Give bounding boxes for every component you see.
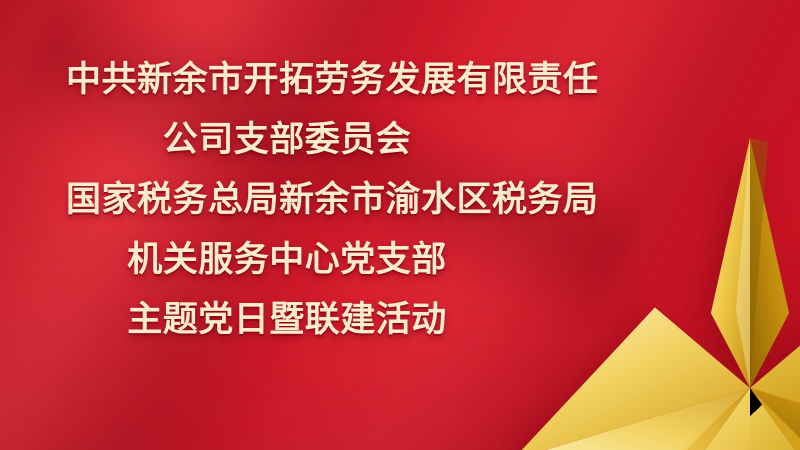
- headline-line-3: 国家税务总局新余市渝水区税务局: [0, 170, 640, 230]
- headline-line-4: 机关服务中心党支部: [0, 230, 640, 290]
- headline-line-5: 主题党日暨联建活动: [0, 290, 640, 350]
- poster-canvas: 中共新余市开拓劳务发展有限责任 公司支部委员会 国家税务总局新余市渝水区税务局 …: [0, 0, 800, 450]
- headline-block: 中共新余市开拓劳务发展有限责任 公司支部委员会 国家税务总局新余市渝水区税务局 …: [0, 0, 640, 350]
- headline-line-2: 公司支部委员会: [0, 110, 640, 170]
- headline-line-1: 中共新余市开拓劳务发展有限责任: [0, 50, 640, 110]
